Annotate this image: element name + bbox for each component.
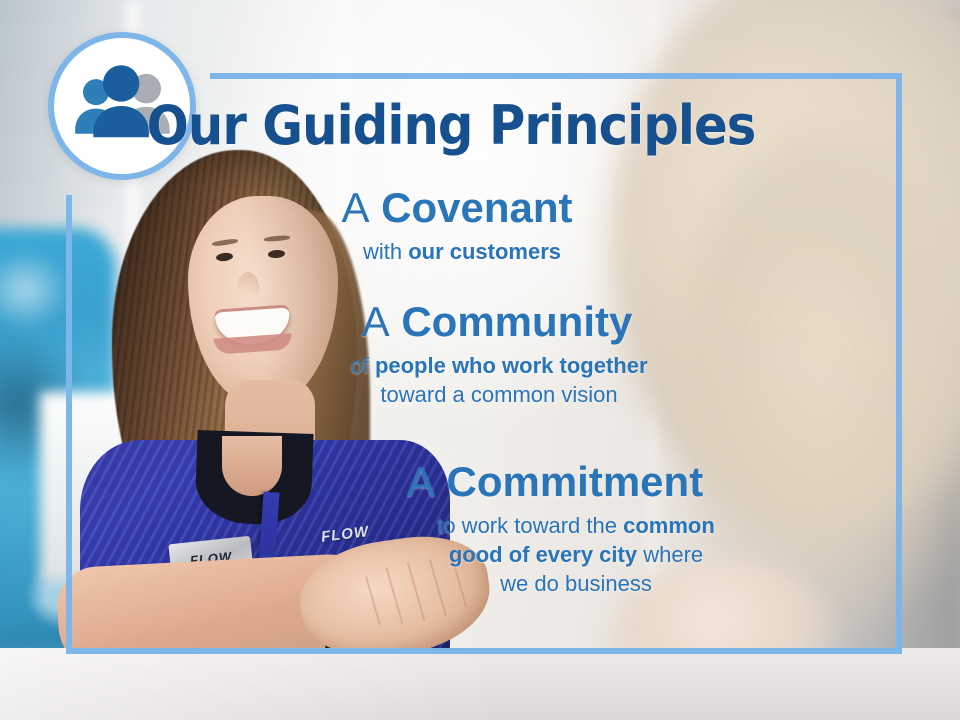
frame-border-top <box>210 73 902 79</box>
principle-keyword: Covenant <box>381 184 572 231</box>
principle-heading: A Commitment <box>0 460 902 504</box>
subtext-run: toward a common vision <box>380 382 617 407</box>
subtext-emphasis: people who work together <box>375 353 648 378</box>
subtext-run: we do business <box>500 571 652 596</box>
principle-heading: A Community <box>0 300 902 344</box>
principle-keyword: Commitment <box>447 458 704 505</box>
guiding-principles-graphic: FLOW FLOW Our Guiding Principles <box>0 0 960 720</box>
principle-subtext: with our customers <box>0 237 902 266</box>
frame-border-bottom <box>66 648 902 654</box>
subtext-emphasis: good of every city <box>449 542 637 567</box>
principle-article: A <box>362 298 390 345</box>
subtext-run: of <box>350 353 374 378</box>
principle-heading: A Covenant <box>0 186 902 230</box>
principle-article: A <box>341 184 369 231</box>
subtext-emphasis: common <box>623 513 715 538</box>
principle-subtext: of people who work togethertoward a comm… <box>0 351 902 409</box>
subtext-emphasis: our customers <box>408 239 561 264</box>
principle-subtext: to work toward the commongood of every c… <box>0 511 902 598</box>
principle-keyword: Community <box>401 298 632 345</box>
principle-commitment: A Commitment to work toward the commongo… <box>0 460 902 598</box>
principle-community: A Community of people who work togethert… <box>0 300 902 409</box>
page-title: Our Guiding Principles <box>36 94 866 157</box>
subtext-run: where <box>637 542 703 567</box>
subtext-run: to work toward the <box>437 513 623 538</box>
principle-article: A <box>407 458 435 505</box>
desk-sheen <box>0 648 620 720</box>
principle-covenant: A Covenant with our customers <box>0 186 902 266</box>
subtext-run: with <box>363 239 408 264</box>
